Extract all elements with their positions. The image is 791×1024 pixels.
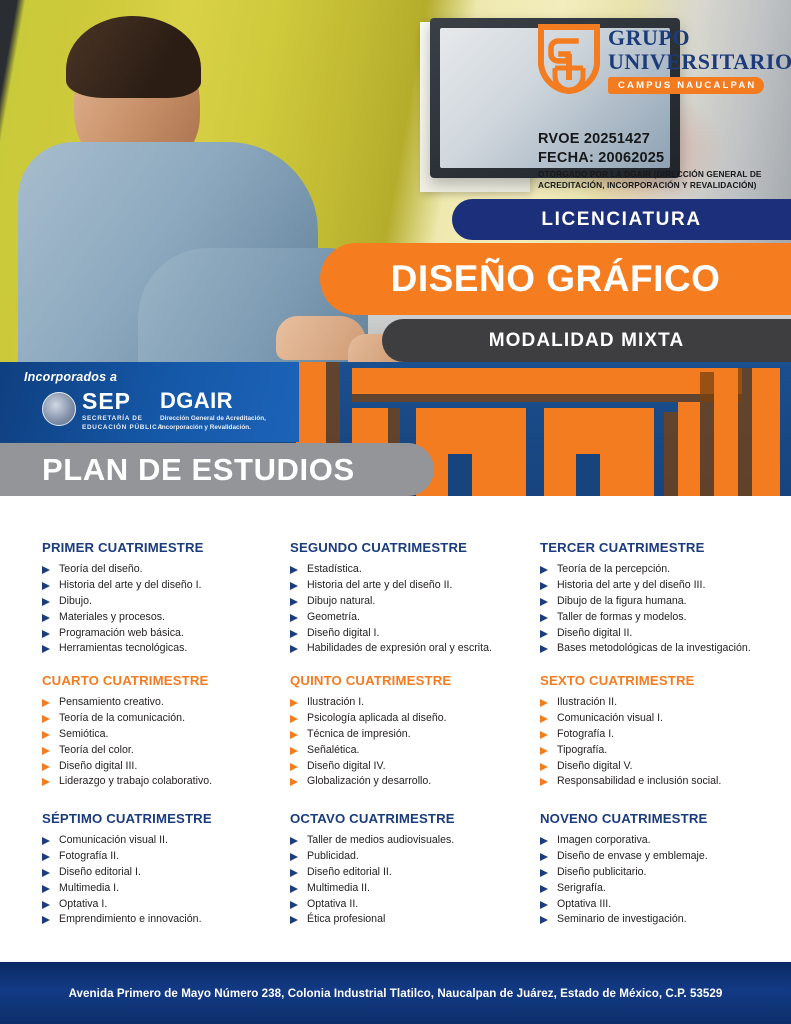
bullet-triangle-icon	[540, 582, 548, 590]
subject-item: Comunicación visual II.	[42, 833, 295, 849]
subject-label: Teoría de la comunicación.	[59, 712, 185, 724]
sep-name: SEP	[82, 390, 131, 413]
bullet-triangle-icon	[290, 869, 298, 877]
subject-label: Pensamiento creativo.	[59, 696, 164, 708]
bullet-triangle-icon	[540, 778, 548, 786]
semester-block: OCTAVO CUATRIMESTRETaller de medios audi…	[290, 811, 543, 928]
subject-item: Multimedia I.	[42, 881, 295, 897]
dgair-name: DGAIR	[160, 390, 288, 412]
subject-label: Diseño publicitario.	[557, 866, 647, 878]
bullet-triangle-icon	[290, 699, 298, 707]
semester-block: PRIMER CUATRIMESTRETeoría del diseño.His…	[42, 540, 295, 657]
semester-title: NOVENO CUATRIMESTRE	[540, 811, 791, 826]
bullet-triangle-icon	[540, 763, 548, 771]
modality-label: MODALIDAD MIXTA	[489, 330, 685, 352]
bullet-triangle-icon	[290, 763, 298, 771]
subject-list: Pensamiento creativo.Teoría de la comuni…	[42, 695, 295, 790]
student-photo-subject	[18, 16, 348, 362]
bullet-triangle-icon	[540, 837, 548, 845]
semester-title: CUARTO CUATRIMESTRE	[42, 673, 295, 688]
hero-section: GRUPO UNIVERSITARIO CAMPUS NAUCALPAN RVO…	[0, 0, 791, 362]
subject-label: Optativa III.	[557, 898, 611, 910]
subject-item: Diseño editorial II.	[290, 865, 543, 881]
subject-item: Semiótica.	[42, 727, 295, 743]
subject-item: Diseño digital II.	[540, 626, 791, 642]
bullet-triangle-icon	[42, 598, 50, 606]
plan-de-estudios-banner: PLAN DE ESTUDIOS	[0, 443, 434, 496]
subject-item: Teoría del color.	[42, 743, 295, 759]
semester-block: CUARTO CUATRIMESTREPensamiento creativo.…	[42, 673, 295, 790]
bullet-triangle-icon	[290, 645, 298, 653]
subject-item: Psicología aplicada al diseño.	[290, 711, 543, 727]
subject-item: Tipografía.	[540, 743, 791, 759]
subject-item: Teoría del diseño.	[42, 562, 295, 578]
sep-seal-icon	[42, 392, 76, 426]
semester-block: TERCER CUATRIMESTRETeoría de la percepci…	[540, 540, 791, 657]
subject-label: Serigrafía.	[557, 882, 606, 894]
subject-item: Taller de medios audiovisuales.	[290, 833, 543, 849]
bullet-triangle-icon	[290, 916, 298, 924]
rvoe-number: RVOE 20251427	[538, 130, 788, 149]
bullet-triangle-icon	[540, 916, 548, 924]
bullet-triangle-icon	[290, 614, 298, 622]
subject-label: Tipografía.	[557, 744, 607, 756]
subject-item: Optativa I.	[42, 897, 295, 913]
bullet-triangle-icon	[290, 853, 298, 861]
incorporation-label: Incorporados a	[24, 370, 117, 384]
footer-address-text: Avenida Primero de Mayo Número 238, Colo…	[69, 987, 723, 1000]
bullet-triangle-icon	[290, 566, 298, 574]
subject-item: Liderazgo y trabajo colaborativo.	[42, 774, 295, 790]
subject-label: Diseño digital V.	[557, 760, 633, 772]
subject-label: Multimedia II.	[307, 882, 370, 894]
subject-item: Materiales y procesos.	[42, 610, 295, 626]
subject-label: Publicidad.	[307, 850, 359, 862]
subject-label: Geometría.	[307, 611, 360, 623]
subject-item: Ilustración II.	[540, 695, 791, 711]
subject-item: Historia del arte y del diseño II.	[290, 578, 543, 594]
bullet-triangle-icon	[540, 645, 548, 653]
bullet-triangle-icon	[42, 885, 50, 893]
subject-item: Fotografía I.	[540, 727, 791, 743]
rvoe-date: FECHA: 20062025	[538, 149, 788, 168]
subject-label: Materiales y procesos.	[59, 611, 165, 623]
subject-list: Teoría del diseño.Historia del arte y de…	[42, 562, 295, 657]
subject-label: Diseño digital II.	[557, 627, 632, 639]
subject-label: Dibujo.	[59, 595, 92, 607]
rvoe-granted-by: OTORGADO POR LA DGAIR (DIRECCIÓN GENERAL…	[538, 169, 788, 191]
semester-title: OCTAVO CUATRIMESTRE	[290, 811, 543, 826]
logo-line-2: UNIVERSITARIO	[608, 50, 784, 74]
footer-address-bar: Avenida Primero de Mayo Número 238, Colo…	[0, 962, 791, 1024]
subject-list: Teoría de la percepción.Historia del art…	[540, 562, 791, 657]
subject-label: Imagen corporativa.	[557, 834, 651, 846]
subject-list: Ilustración II.Comunicación visual I.Fot…	[540, 695, 791, 790]
bullet-triangle-icon	[540, 598, 548, 606]
subject-item: Serigrafía.	[540, 881, 791, 897]
subject-label: Responsabilidad e inclusión social.	[557, 775, 721, 787]
bullet-triangle-icon	[540, 699, 548, 707]
bullet-triangle-icon	[42, 614, 50, 622]
subject-item: Diseño digital V.	[540, 759, 791, 775]
plan-de-estudios-title: PLAN DE ESTUDIOS	[42, 452, 355, 488]
degree-level-bar: LICENCIATURA	[452, 199, 791, 240]
bullet-triangle-icon	[290, 885, 298, 893]
subject-item: Teoría de la percepción.	[540, 562, 791, 578]
subject-label: Historia del arte y del diseño I.	[59, 579, 202, 591]
subject-label: Taller de formas y modelos.	[557, 611, 687, 623]
bullet-triangle-icon	[42, 778, 50, 786]
subject-item: Herramientas tecnológicas.	[42, 641, 295, 657]
subject-label: Optativa II.	[307, 898, 358, 910]
subject-label: Optativa I.	[59, 898, 107, 910]
subject-label: Señalética.	[307, 744, 359, 756]
subject-label: Ética profesional	[307, 913, 385, 925]
semester-title: QUINTO CUATRIMESTRE	[290, 673, 543, 688]
semester-title: SEXTO CUATRIMESTRE	[540, 673, 791, 688]
subject-item: Dibujo natural.	[290, 594, 543, 610]
institution-logo: GRUPO UNIVERSITARIO CAMPUS NAUCALPAN	[538, 24, 784, 100]
subject-item: Geometría.	[290, 610, 543, 626]
subject-item: Globalización y desarrollo.	[290, 774, 543, 790]
bullet-triangle-icon	[42, 630, 50, 638]
subject-label: Diseño editorial II.	[307, 866, 392, 878]
subject-label: Programación web básica.	[59, 627, 184, 639]
subject-item: Bases metodológicas de la investigación.	[540, 641, 791, 657]
bullet-triangle-icon	[42, 837, 50, 845]
program-name-bar: DISEÑO GRÁFICO	[320, 243, 791, 315]
subject-label: Dibujo natural.	[307, 595, 375, 607]
subject-label: Ilustración II.	[557, 696, 617, 708]
subject-label: Fotografía II.	[59, 850, 119, 862]
subject-item: Diseño de envase y emblemaje.	[540, 849, 791, 865]
subject-item: Publicidad.	[290, 849, 543, 865]
subject-label: Fotografía I.	[557, 728, 614, 740]
bullet-triangle-icon	[540, 630, 548, 638]
semester-title: SÉPTIMO CUATRIMESTRE	[42, 811, 295, 826]
subject-label: Semiótica.	[59, 728, 108, 740]
subject-item: Programación web básica.	[42, 626, 295, 642]
bullet-triangle-icon	[540, 614, 548, 622]
bullet-triangle-icon	[540, 853, 548, 861]
subject-label: Emprendimiento e innovación.	[59, 913, 202, 925]
semester-block: SEGUNDO CUATRIMESTREEstadística.Historia…	[290, 540, 543, 657]
subject-list: Ilustración I.Psicología aplicada al dis…	[290, 695, 543, 790]
bullet-triangle-icon	[42, 916, 50, 924]
rvoe-block: RVOE 20251427 FECHA: 20062025 OTORGADO P…	[538, 130, 788, 191]
subject-item: Fotografía II.	[42, 849, 295, 865]
subject-label: Diseño de envase y emblemaje.	[557, 850, 708, 862]
bullet-triangle-icon	[540, 747, 548, 755]
bullet-triangle-icon	[42, 747, 50, 755]
subject-item: Diseño digital III.	[42, 759, 295, 775]
subject-label: Comunicación visual I.	[557, 712, 663, 724]
subject-list: Imagen corporativa.Diseño de envase y em…	[540, 833, 791, 928]
subject-item: Ética profesional	[290, 912, 543, 928]
bullet-triangle-icon	[290, 630, 298, 638]
bullet-triangle-icon	[42, 763, 50, 771]
subject-label: Teoría del diseño.	[59, 563, 143, 575]
bullet-triangle-icon	[540, 901, 548, 909]
bullet-triangle-icon	[42, 853, 50, 861]
subject-item: Multimedia II.	[290, 881, 543, 897]
subject-label: Comunicación visual II.	[59, 834, 168, 846]
subject-item: Diseño digital IV.	[290, 759, 543, 775]
logo-line-1: GRUPO	[608, 26, 784, 50]
bullet-triangle-icon	[42, 645, 50, 653]
subject-label: Bases metodológicas de la investigación.	[557, 642, 751, 654]
subject-item: Optativa II.	[290, 897, 543, 913]
subject-item: Estadística.	[290, 562, 543, 578]
modality-bar: MODALIDAD MIXTA	[382, 319, 791, 362]
sep-subtitle: SECRETARÍA DE EDUCACIÓN PÚBLICA	[82, 415, 163, 432]
subject-label: Diseño digital IV.	[307, 760, 386, 772]
bullet-triangle-icon	[290, 747, 298, 755]
subject-label: Técnica de impresión.	[307, 728, 411, 740]
subject-label: Historia del arte y del diseño III.	[557, 579, 705, 591]
subject-item: Técnica de impresión.	[290, 727, 543, 743]
subject-item: Taller de formas y modelos.	[540, 610, 791, 626]
subject-item: Diseño editorial I.	[42, 865, 295, 881]
logo-campus-badge: CAMPUS NAUCALPAN	[608, 77, 764, 94]
subject-label: Herramientas tecnológicas.	[59, 642, 187, 654]
shield-logo-icon	[538, 24, 600, 94]
subject-item: Seminario de investigación.	[540, 912, 791, 928]
subject-item: Dibujo de la figura humana.	[540, 594, 791, 610]
subject-label: Taller de medios audiovisuales.	[307, 834, 454, 846]
bullet-triangle-icon	[540, 885, 548, 893]
subject-list: Taller de medios audiovisuales.Publicida…	[290, 833, 543, 928]
subject-list: Estadística.Historia del arte y del dise…	[290, 562, 543, 657]
program-name-label: DISEÑO GRÁFICO	[391, 258, 721, 300]
subject-label: Dibujo de la figura humana.	[557, 595, 687, 607]
bullet-triangle-icon	[290, 778, 298, 786]
subject-item: Señalética.	[290, 743, 543, 759]
subject-label: Diseño digital III.	[59, 760, 137, 772]
subject-label: Seminario de investigación.	[557, 913, 687, 925]
bullet-triangle-icon	[540, 566, 548, 574]
bullet-triangle-icon	[290, 837, 298, 845]
semester-title: SEGUNDO CUATRIMESTRE	[290, 540, 543, 555]
subject-item: Emprendimiento e innovación.	[42, 912, 295, 928]
bullet-triangle-icon	[42, 582, 50, 590]
semester-block: NOVENO CUATRIMESTREImagen corporativa.Di…	[540, 811, 791, 928]
subject-item: Pensamiento creativo.	[42, 695, 295, 711]
subject-label: Habilidades de expresión oral y escrita.	[307, 642, 492, 654]
dgair-logo: DGAIR Dirección General de Acreditación,…	[160, 390, 288, 432]
subject-label: Historia del arte y del diseño II.	[307, 579, 452, 591]
semester-block: SEXTO CUATRIMESTREIlustración II.Comunic…	[540, 673, 791, 790]
incorporation-band: Incorporados a SEP SECRETARÍA DE EDUCACI…	[0, 362, 299, 442]
subject-item: Comunicación visual I.	[540, 711, 791, 727]
bullet-triangle-icon	[290, 598, 298, 606]
subject-item: Responsabilidad e inclusión social.	[540, 774, 791, 790]
subject-label: Teoría del color.	[59, 744, 134, 756]
subject-item: Diseño publicitario.	[540, 865, 791, 881]
bullet-triangle-icon	[42, 699, 50, 707]
subject-item: Historia del arte y del diseño III.	[540, 578, 791, 594]
subject-label: Diseño digital I.	[307, 627, 379, 639]
subject-item: Dibujo.	[42, 594, 295, 610]
subject-label: Diseño editorial I.	[59, 866, 141, 878]
semester-title: PRIMER CUATRIMESTRE	[42, 540, 295, 555]
bullet-triangle-icon	[540, 715, 548, 723]
subject-label: Liderazgo y trabajo colaborativo.	[59, 775, 212, 787]
bullet-triangle-icon	[42, 731, 50, 739]
subject-label: Multimedia I.	[59, 882, 119, 894]
bullet-triangle-icon	[42, 901, 50, 909]
subject-item: Historia del arte y del diseño I.	[42, 578, 295, 594]
bullet-triangle-icon	[290, 582, 298, 590]
subject-item: Imagen corporativa.	[540, 833, 791, 849]
degree-level-label: LICENCIATURA	[541, 209, 701, 231]
subject-label: Estadística.	[307, 563, 362, 575]
bullet-triangle-icon	[42, 566, 50, 574]
subject-label: Psicología aplicada al diseño.	[307, 712, 447, 724]
bullet-triangle-icon	[290, 715, 298, 723]
semester-block: QUINTO CUATRIMESTREIlustración I.Psicolo…	[290, 673, 543, 790]
subject-item: Diseño digital I.	[290, 626, 543, 642]
bullet-triangle-icon	[290, 731, 298, 739]
bullet-triangle-icon	[540, 731, 548, 739]
subject-label: Globalización y desarrollo.	[307, 775, 431, 787]
bullet-triangle-icon	[290, 901, 298, 909]
subject-item: Teoría de la comunicación.	[42, 711, 295, 727]
brochure-page: GRUPO UNIVERSITARIO CAMPUS NAUCALPAN RVO…	[0, 0, 791, 1024]
subject-list: Comunicación visual II.Fotografía II.Dis…	[42, 833, 295, 928]
subject-label: Teoría de la percepción.	[557, 563, 670, 575]
semester-title: TERCER CUATRIMESTRE	[540, 540, 791, 555]
curriculum-grid: PRIMER CUATRIMESTRETeoría del diseño.His…	[0, 540, 791, 950]
subject-item: Habilidades de expresión oral y escrita.	[290, 641, 543, 657]
bullet-triangle-icon	[42, 715, 50, 723]
subject-item: Optativa III.	[540, 897, 791, 913]
subject-item: Ilustración I.	[290, 695, 543, 711]
bullet-triangle-icon	[540, 869, 548, 877]
dgair-subtitle: Dirección General de Acreditación, Incor…	[160, 415, 288, 432]
subject-label: Ilustración I.	[307, 696, 364, 708]
bullet-triangle-icon	[42, 869, 50, 877]
semester-block: SÉPTIMO CUATRIMESTREComunicación visual …	[42, 811, 295, 928]
